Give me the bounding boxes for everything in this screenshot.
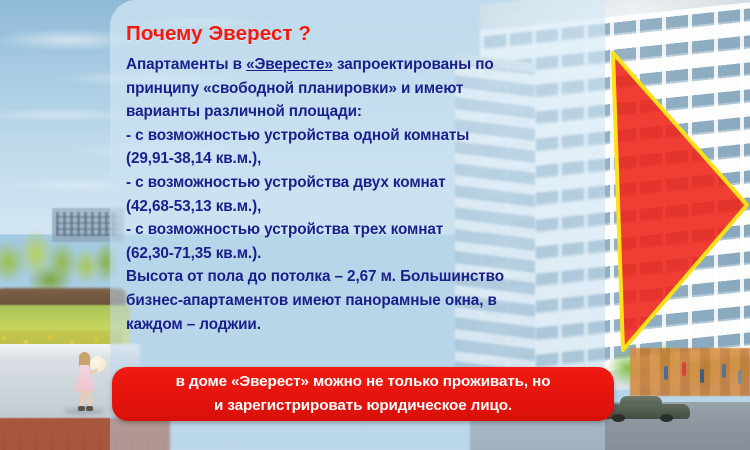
car-wheel-rear [660,414,673,422]
paragraph-ceiling-line-3: каждом – лоджии. [126,313,596,337]
pedestrian [664,366,668,380]
callout-banner-line-2: и зарегистрировать юридическое лицо. [214,394,512,418]
pedestrian [738,370,742,384]
slide-content: Почему Эверест ? Апартаменты в «Эвересте… [126,22,596,336]
red-play-triangle-icon [605,45,750,360]
paragraph-intro-line-3: варианты различной площади: [126,100,596,124]
everest-underlined: «Эвересте» [246,56,333,73]
pedestrian [722,364,726,378]
intro-text-after: запроектированы по [333,56,494,73]
car-wheel-front [612,414,625,422]
paragraph-ceiling-line-1: Высота от пола до потолка – 2,67 м. Боль… [126,265,596,289]
girl-shoe-left [78,406,85,411]
paragraph-one-room-line-1: - с возможностью устройства одной комнат… [126,124,596,148]
paragraph-two-rooms-line-2: (42,68-53,13 кв.м.), [126,195,596,219]
presentation-slide: Почему Эверест ? Апартаменты в «Эвересте… [0,0,750,450]
paragraph-three-rooms-line-2: (62,30-71,35 кв.м.). [126,242,596,266]
paragraph-intro-line-2: принципу «свободной планировки» и имеют [126,77,596,101]
paragraph-one-room-line-2: (29,91-38,14 кв.м.), [126,147,596,171]
callout-banner: в доме «Эверест» можно не только прожива… [112,367,614,421]
intro-text-before: Апартаменты в [126,56,246,73]
body-text-block: Апартаменты в «Эвересте» запроектированы… [126,53,596,336]
page-title: Почему Эверест ? [126,22,596,46]
pedestrians-group [660,360,750,394]
paragraph-ceiling-line-2: бизнес-апартаментов имеют панорамные окн… [126,289,596,313]
pedestrian [700,369,704,383]
pedestrian [682,362,686,376]
paragraph-three-rooms-line-1: - с возможностью устройства трех комнат [126,218,596,242]
girl-shoe-right [86,406,93,411]
paragraph-two-rooms-line-1: - с возможностью устройства двух комнат [126,171,596,195]
callout-banner-line-1: в доме «Эверест» можно не только прожива… [176,370,551,394]
paragraph-intro-line-1: Апартаменты в «Эвересте» запроектированы… [126,53,596,77]
girl-figure [70,352,104,414]
